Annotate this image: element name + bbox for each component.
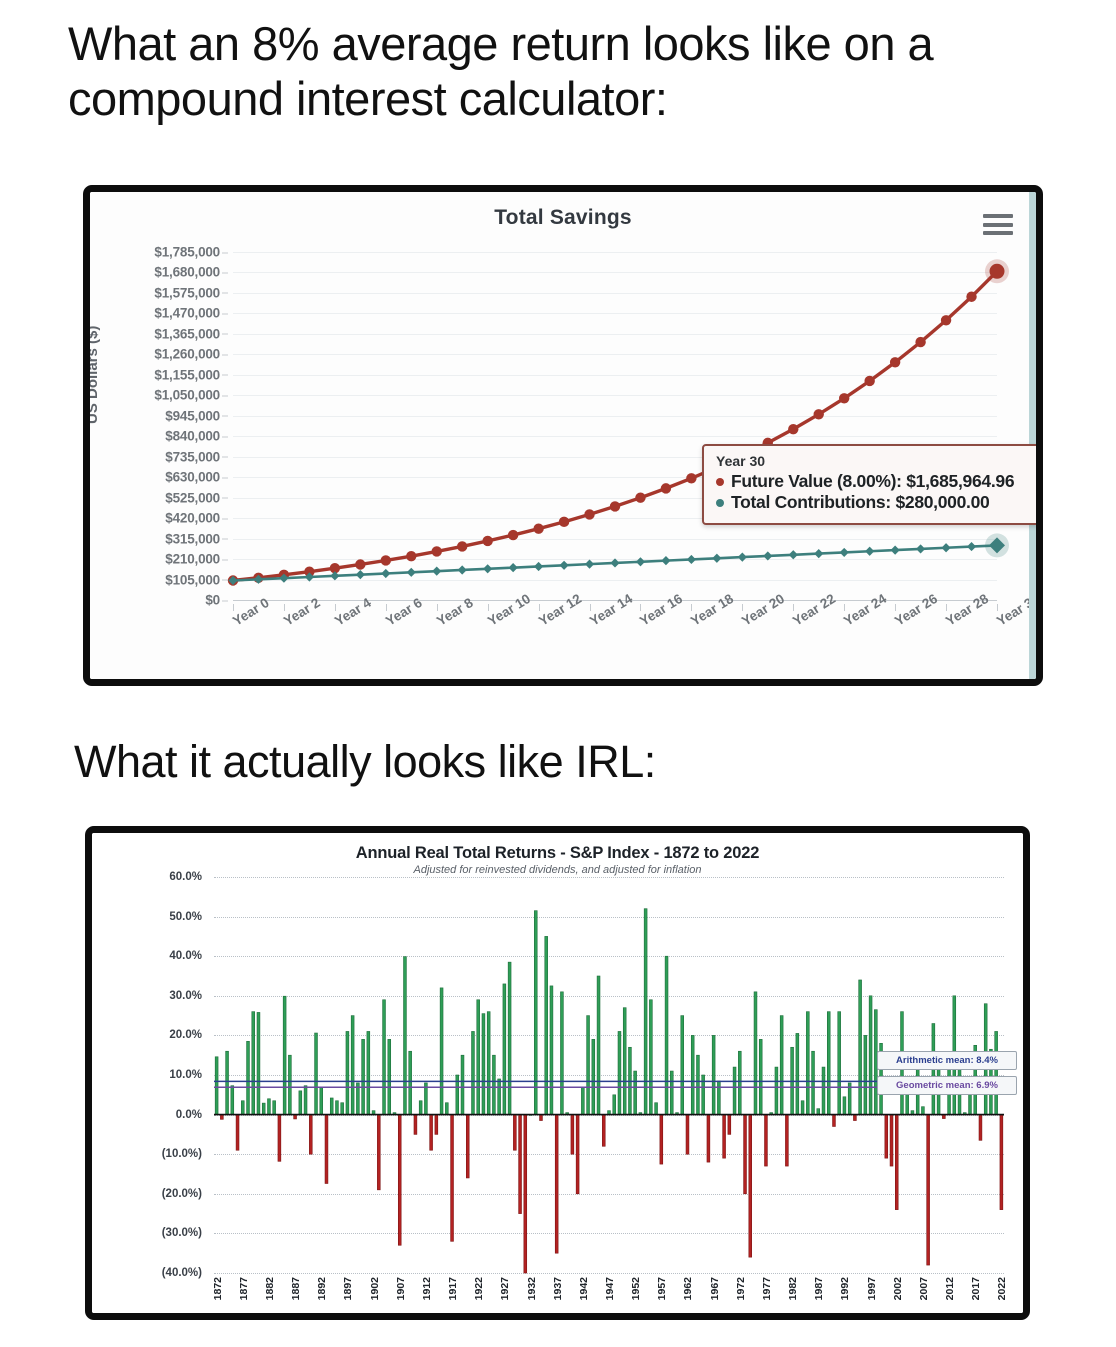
bar: [587, 1016, 590, 1115]
bar: [623, 1008, 626, 1115]
y-tick-label: (40.0%): [162, 1267, 202, 1279]
bar: [451, 1115, 454, 1242]
hamburger-bar-3: [983, 231, 1013, 235]
bar: [550, 986, 553, 1115]
bar: [864, 1035, 867, 1114]
data-point-marker: [330, 571, 339, 580]
chart-title-sp500: Annual Real Total Returns - S&P Index - …: [92, 844, 1023, 863]
x-tick-label: 1882: [264, 1277, 276, 1300]
y-tick-label: 20.0%: [169, 1029, 202, 1041]
data-point-marker: [610, 558, 619, 567]
bar: [644, 909, 647, 1115]
bar: [231, 1086, 234, 1115]
bar: [665, 956, 668, 1114]
bar: [843, 1097, 846, 1115]
data-point-marker: [457, 541, 467, 551]
hamburger-bar-2: [983, 223, 1013, 227]
data-point-marker: [915, 337, 925, 347]
bar: [409, 1051, 412, 1114]
gridline: [214, 1273, 1004, 1274]
bar: [241, 1101, 244, 1115]
bar: [315, 1033, 318, 1115]
bar: [812, 1051, 815, 1114]
bar: [268, 1099, 271, 1115]
line-series-svg: [233, 252, 997, 600]
bar: [320, 1087, 323, 1115]
bar: [765, 1115, 768, 1166]
y-tick-mark: [222, 436, 228, 437]
y-tick-label: $1,470,000: [154, 306, 220, 321]
bar: [691, 1035, 694, 1114]
bar: [885, 1115, 888, 1159]
bar: [833, 1115, 836, 1127]
data-point-marker: [865, 547, 874, 556]
headline-irl: What it actually looks like IRL:: [74, 735, 1054, 788]
bar: [822, 1067, 825, 1115]
x-tick-label: 1927: [499, 1277, 511, 1300]
x-tick-label: 1917: [447, 1277, 459, 1300]
data-point-marker: [356, 570, 365, 579]
hamburger-menu-icon[interactable]: [983, 214, 1013, 235]
y-tick-mark: [222, 518, 228, 519]
data-point-marker: [458, 565, 467, 574]
bar: [979, 1115, 982, 1141]
bar: [351, 1016, 354, 1115]
x-tick-mark: [691, 604, 692, 611]
x-tick-label: 1972: [735, 1277, 747, 1300]
bar: [806, 1012, 809, 1115]
y-tick-label: $1,575,000: [154, 285, 220, 300]
legend-geometric-mean: Geometric mean: 6.9%: [877, 1076, 1017, 1095]
y-tick-mark: [222, 498, 228, 499]
bar: [697, 1055, 700, 1114]
y-tick-mark: [222, 375, 228, 376]
bar: [466, 1115, 469, 1178]
x-tick-mark: [488, 604, 489, 611]
data-point-marker: [814, 549, 823, 558]
y-tick-label: $1,365,000: [154, 326, 220, 341]
bar: [744, 1115, 747, 1194]
bar: [686, 1115, 689, 1155]
bar: [262, 1103, 265, 1114]
bar: [749, 1115, 752, 1258]
x-tick-label: 1897: [342, 1277, 354, 1300]
data-point-marker: [891, 545, 900, 554]
bar: [430, 1115, 433, 1151]
x-tick-mark: [793, 604, 794, 611]
bar: [404, 957, 407, 1115]
y-tick-label: $1,680,000: [154, 265, 220, 280]
bar: [278, 1115, 281, 1162]
bar: [288, 1055, 291, 1114]
x-tick-label: 1887: [290, 1277, 302, 1300]
y-tick-mark: [222, 416, 228, 417]
y-tick-label: (30.0%): [162, 1227, 202, 1239]
bar: [226, 1051, 229, 1114]
data-point-marker: [941, 315, 951, 325]
data-point-marker: [967, 542, 976, 551]
bar: [838, 1012, 841, 1115]
bar: [383, 1000, 386, 1115]
x-tick-mark: [844, 604, 845, 611]
x-tick-label: 1952: [630, 1277, 642, 1300]
bar: [503, 984, 506, 1115]
bar: [236, 1115, 239, 1151]
data-point-marker: [483, 564, 492, 573]
x-tick-mark: [742, 604, 743, 611]
y-tick-mark: [222, 354, 228, 355]
bar: [1000, 1115, 1003, 1210]
x-tick-label: 2012: [944, 1277, 956, 1300]
bar: [728, 1115, 731, 1135]
y-tick-mark: [222, 580, 228, 581]
data-point-marker: [381, 555, 391, 565]
bar: [445, 1103, 448, 1115]
x-tick-label: 1877: [238, 1277, 250, 1300]
bar: [859, 980, 862, 1115]
y-tick-mark: [222, 457, 228, 458]
data-point-marker: [788, 424, 798, 434]
x-tick-label: 1982: [787, 1277, 799, 1300]
bar: [435, 1115, 438, 1135]
x-tick-mark: [997, 604, 998, 611]
bar: [649, 1000, 652, 1115]
bar: [492, 1055, 495, 1114]
bar: [853, 1115, 856, 1121]
bar: [754, 992, 757, 1115]
tooltip-total-contributions-text: Total Contributions: $280,000.00: [731, 492, 989, 513]
total-contributions-dot-icon: [716, 499, 724, 507]
tooltip-future-value-text: Future Value (8.00%): $1,685,964.96: [731, 471, 1014, 492]
bar: [869, 996, 872, 1115]
y-tick-label: $840,000: [165, 429, 220, 444]
bar: [602, 1115, 605, 1147]
bar: [398, 1115, 401, 1246]
bar: [817, 1109, 820, 1115]
x-tick-label: 1907: [395, 1277, 407, 1300]
bar: [785, 1115, 788, 1166]
data-point-marker: [916, 544, 925, 553]
bar: [362, 1039, 365, 1114]
y-tick-label: $0: [205, 593, 220, 608]
bar: [414, 1115, 417, 1135]
sp500-x-axis-tick-labels: 1872187718821887189218971902190719121917…: [214, 1277, 1004, 1320]
y-tick-mark: [222, 252, 228, 253]
bar: [524, 1115, 527, 1273]
data-point-marker: [407, 568, 416, 577]
y-tick-mark: [222, 272, 228, 273]
x-tick-label: 1872: [212, 1277, 224, 1300]
data-point-marker: [890, 357, 900, 367]
data-point-marker: [990, 264, 1005, 279]
bar: [346, 1031, 349, 1114]
bar: [309, 1115, 312, 1155]
bar: [921, 1107, 924, 1115]
x-tick-label: 1912: [421, 1277, 433, 1300]
bar: [576, 1115, 579, 1194]
bar: [581, 1087, 584, 1115]
right-edge-strip: [1029, 192, 1036, 679]
y-tick-label: $735,000: [165, 449, 220, 464]
data-point-marker: [534, 562, 543, 571]
x-tick-label: 1902: [369, 1277, 381, 1300]
bar: [482, 1014, 485, 1115]
x-tick-label: 2002: [892, 1277, 904, 1300]
bar: [534, 911, 537, 1115]
bar: [796, 1033, 799, 1114]
bar: [341, 1103, 344, 1115]
y-tick-label: 10.0%: [169, 1069, 202, 1081]
data-point-marker: [839, 393, 849, 403]
data-point-marker: [509, 563, 518, 572]
bar: [247, 1041, 250, 1114]
hamburger-bar-1: [983, 214, 1013, 218]
x-tick-label: 2022: [996, 1277, 1008, 1300]
bar: [273, 1101, 276, 1115]
headline-compound-interest: What an 8% average return looks like on …: [68, 16, 1048, 127]
bar: [733, 1067, 736, 1115]
sp500-chart-inner: Annual Real Total Returns - S&P Index - …: [92, 833, 1023, 1313]
x-tick-label: 2017: [970, 1277, 982, 1300]
data-point-marker: [432, 546, 442, 556]
data-point-marker: [584, 509, 594, 519]
bar: [634, 1071, 637, 1115]
compound-interest-chart-card: Total Savings US Dollars ($) $1,785,000$…: [83, 185, 1043, 686]
bar: [304, 1086, 307, 1115]
y-tick-label: $1,050,000: [154, 388, 220, 403]
x-tick-label: 1987: [813, 1277, 825, 1300]
bar: [440, 988, 443, 1115]
y-tick-label: $525,000: [165, 490, 220, 505]
bar: [215, 1057, 218, 1115]
bar: [513, 1115, 516, 1151]
data-point-marker: [559, 561, 568, 570]
bar: [299, 1091, 302, 1115]
legend-arithmetic-mean: Arithmetic mean: 8.4%: [877, 1051, 1017, 1070]
x-tick-mark: [590, 604, 591, 611]
bar: [592, 1039, 595, 1114]
bar: [336, 1101, 339, 1115]
x-tick-label: 1997: [866, 1277, 878, 1300]
data-point-marker: [482, 536, 492, 546]
tooltip-row-future-value: Future Value (8.00%): $1,685,964.96: [716, 471, 1043, 492]
x-tick-label: 1922: [473, 1277, 485, 1300]
tooltip-row-total-contributions: Total Contributions: $280,000.00: [716, 492, 1043, 513]
bar: [655, 1103, 658, 1115]
data-point-marker: [840, 548, 849, 557]
x-tick-label: 1932: [526, 1277, 538, 1300]
y-tick-mark: [222, 293, 228, 294]
bar: [487, 1012, 490, 1115]
bar: [723, 1115, 726, 1159]
bar: [618, 1031, 621, 1114]
data-point-marker: [508, 530, 518, 540]
bar: [472, 1031, 475, 1114]
y-tick-label: $315,000: [165, 531, 220, 546]
x-tick-mark: [640, 604, 641, 611]
data-point-marker: [355, 559, 365, 569]
bar: [419, 1101, 422, 1115]
y-tick-label: 40.0%: [169, 950, 202, 962]
data-point-marker: [533, 524, 543, 534]
x-tick-label: 1947: [604, 1277, 616, 1300]
bar: [257, 1012, 260, 1114]
x-tick-mark: [437, 604, 438, 611]
data-point-marker: [585, 560, 594, 569]
y-tick-mark: [222, 539, 228, 540]
y-axis-title: US Dollars ($): [84, 326, 101, 424]
x-tick-mark: [284, 604, 285, 611]
chart-title-total-savings: Total Savings: [90, 206, 1036, 230]
bar: [377, 1115, 380, 1190]
bar: [388, 1039, 391, 1114]
data-point-marker: [763, 551, 772, 560]
y-tick-label: $420,000: [165, 511, 220, 526]
y-tick-mark: [222, 313, 228, 314]
bar: [498, 1079, 501, 1115]
bar: [775, 1067, 778, 1115]
data-point-marker: [636, 557, 645, 566]
y-tick-mark: [222, 334, 228, 335]
chart-tooltip: Year 30 Future Value (8.00%): $1,685,964…: [702, 444, 1043, 525]
data-point-marker: [635, 493, 645, 503]
y-tick-label: 30.0%: [169, 990, 202, 1002]
bar: [571, 1115, 574, 1155]
x-tick-mark: [386, 604, 387, 611]
bar: [738, 1051, 741, 1114]
tooltip-header: Year 30: [716, 453, 1043, 469]
y-tick-label: $945,000: [165, 408, 220, 423]
x-tick-mark: [335, 604, 336, 611]
data-point-marker: [610, 501, 620, 511]
sp500-legend: Arithmetic mean: 8.4% Geometric mean: 6.…: [877, 1051, 1017, 1101]
x-tick-mark: [895, 604, 896, 611]
bar: [780, 1016, 783, 1115]
y-tick-label: $105,000: [165, 572, 220, 587]
x-tick-label: 1892: [316, 1277, 328, 1300]
bar: [330, 1098, 333, 1115]
bar: [717, 1081, 720, 1115]
compound-chart-inner: Total Savings US Dollars ($) $1,785,000$…: [90, 192, 1036, 679]
data-point-marker: [432, 567, 441, 576]
bar: [477, 1000, 480, 1115]
y-tick-label: $1,785,000: [154, 245, 220, 260]
x-tick-mark: [946, 604, 947, 611]
bar: [555, 1115, 558, 1254]
bar: [461, 1055, 464, 1114]
bar: [367, 1031, 370, 1114]
x-tick-label: 2007: [918, 1277, 930, 1300]
x-tick-label: 1957: [656, 1277, 668, 1300]
bar: [759, 1039, 762, 1114]
chart-subtitle-sp500: Adjusted for reinvested dividends, and a…: [92, 864, 1023, 876]
data-point-marker: [712, 554, 721, 563]
data-point-marker: [406, 551, 416, 561]
data-point-marker: [738, 553, 747, 562]
y-tick-label: 60.0%: [169, 871, 202, 883]
y-axis-tick-labels: $1,785,000$1,680,000$1,575,000$1,470,000…: [110, 252, 228, 600]
bar: [597, 976, 600, 1115]
data-point-marker: [559, 517, 569, 527]
y-tick-label: (20.0%): [162, 1188, 202, 1200]
x-tick-label: 1937: [552, 1277, 564, 1300]
bar: [670, 1071, 673, 1115]
bar: [890, 1115, 893, 1166]
data-point-marker: [687, 555, 696, 564]
bar: [252, 1012, 255, 1115]
data-point-marker: [814, 409, 824, 419]
y-tick-label: 50.0%: [169, 911, 202, 923]
x-tick-label: 1977: [761, 1277, 773, 1300]
bar: [560, 992, 563, 1115]
y-tick-label: $210,000: [165, 552, 220, 567]
series-line: [233, 271, 997, 580]
y-tick-mark: [222, 559, 228, 560]
bar: [827, 1012, 830, 1115]
data-point-marker: [661, 483, 671, 493]
x-tick-label: 1967: [709, 1277, 721, 1300]
data-point-marker: [661, 556, 670, 565]
y-tick-mark: [222, 477, 228, 478]
bar: [712, 1035, 715, 1114]
data-point-marker: [966, 292, 976, 302]
bar: [613, 1095, 616, 1115]
data-point-marker: [789, 550, 798, 559]
x-tick-mark: [539, 604, 540, 611]
bar: [283, 996, 286, 1114]
x-axis-tick-labels: Year 0Year 2Year 4Year 6Year 8Year 10Yea…: [233, 604, 997, 684]
x-tick-label: 1942: [578, 1277, 590, 1300]
sp500-returns-chart-card: Annual Real Total Returns - S&P Index - …: [85, 826, 1030, 1320]
y-tick-label: (10.0%): [162, 1148, 202, 1160]
sp500-y-axis-tick-labels: 60.0%50.0%40.0%30.0%20.0%10.0%0.0%(10.0%…: [100, 877, 208, 1273]
bar: [519, 1115, 522, 1214]
x-tick-label: 1992: [839, 1277, 851, 1300]
y-tick-label: $1,155,000: [154, 367, 220, 382]
bar: [801, 1101, 804, 1115]
future-value-dot-icon: [716, 478, 724, 486]
bar: [325, 1115, 328, 1184]
y-tick-mark: [222, 395, 228, 396]
bar: [681, 1016, 684, 1115]
x-tick-mark: [233, 604, 234, 611]
bar: [540, 1115, 543, 1121]
y-tick-label: 0.0%: [176, 1109, 202, 1121]
plot-area: [233, 252, 997, 600]
data-point-marker: [941, 543, 950, 552]
data-point-marker: [864, 376, 874, 386]
bar: [707, 1115, 710, 1163]
bar: [508, 962, 511, 1114]
y-tick-label: $630,000: [165, 470, 220, 485]
x-tick-label: 1962: [682, 1277, 694, 1300]
data-point-marker: [686, 473, 696, 483]
bar: [927, 1115, 930, 1265]
bar: [895, 1115, 898, 1210]
y-tick-label: $1,260,000: [154, 347, 220, 362]
bar: [660, 1115, 663, 1165]
y-tick-mark: [222, 600, 228, 601]
data-point-marker: [381, 569, 390, 578]
